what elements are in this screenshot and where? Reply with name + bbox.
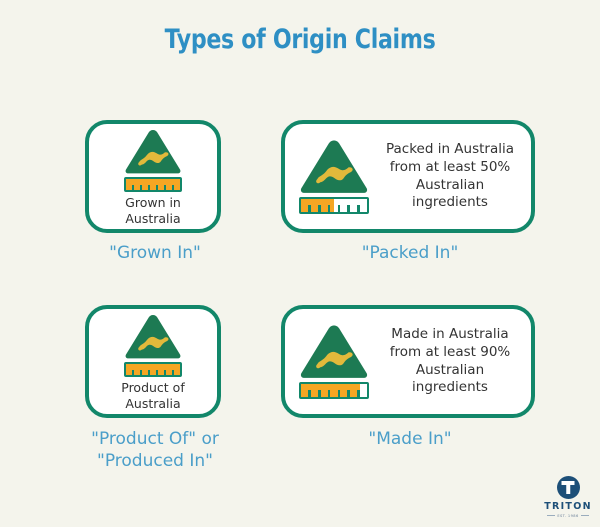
- gauge-ticks: [126, 364, 180, 375]
- claim-label-line1: Grown in: [125, 195, 181, 210]
- brand-logo: TRITON EST. 1986: [546, 476, 590, 518]
- page-title: Types of Origin Claims: [54, 24, 546, 55]
- ingredient-gauge: [299, 382, 369, 399]
- caption-line: "Packed In": [310, 242, 510, 264]
- gauge-ticks: [301, 384, 367, 397]
- claim-text-line4: ingredients: [379, 194, 521, 212]
- claim-text-line4: ingredients: [379, 379, 521, 397]
- claim-text-line3: Australian: [379, 362, 521, 380]
- gauge-ticks: [301, 199, 367, 212]
- claim-text-line1: Packed in Australia: [379, 141, 521, 159]
- rule-left: [547, 515, 555, 516]
- caption-line: "Produced In": [45, 450, 265, 472]
- claim-made-in: Made in Australia from at least 90% Aust…: [281, 305, 535, 418]
- green-triangle-icon: [124, 129, 182, 175]
- australian-made-kangaroo-icon: [297, 139, 371, 214]
- green-triangle-icon: [299, 139, 369, 195]
- caption-packed-in: "Packed In": [310, 242, 510, 264]
- claim-product-of: Product of Australia: [85, 305, 221, 418]
- claim-text-line3: Australian: [379, 177, 521, 195]
- gauge-ticks: [126, 179, 180, 190]
- claim-label: Grown in Australia: [125, 195, 181, 226]
- rule-right: [581, 515, 589, 516]
- australian-made-kangaroo-icon: [121, 129, 185, 192]
- australian-made-kangaroo-icon: [121, 314, 185, 377]
- claim-text: Made in Australia from at least 90% Aust…: [379, 326, 521, 396]
- claim-grown-in: Grown in Australia: [85, 120, 221, 233]
- claim-card-product-of: Product of Australia: [85, 305, 221, 418]
- caption-line: "Product Of" or: [45, 428, 265, 450]
- claim-label-line1: Product of: [121, 380, 184, 395]
- caption-grown-in: "Grown In": [60, 242, 250, 264]
- claim-text-line1: Made in Australia: [379, 326, 521, 344]
- claim-card-grown-in: Grown in Australia: [85, 120, 221, 233]
- claim-label: Product of Australia: [121, 380, 184, 411]
- claim-card-made-in: Made in Australia from at least 90% Aust…: [281, 305, 535, 418]
- claim-text-line2: from at least 50%: [379, 159, 521, 177]
- caption-line: "Made In": [310, 428, 510, 450]
- caption-line: "Grown In": [60, 242, 250, 264]
- australian-made-kangaroo-icon: [297, 324, 371, 399]
- claim-label-line2: Australia: [121, 396, 184, 411]
- claim-card-packed-in: Packed in Australia from at least 50% Au…: [281, 120, 535, 233]
- claim-text-line2: from at least 90%: [379, 344, 521, 362]
- claim-text: Packed in Australia from at least 50% Au…: [379, 141, 521, 211]
- brand-tagline: EST. 1986: [546, 514, 590, 518]
- caption-product-of: "Product Of" or "Produced In": [45, 428, 265, 473]
- claim-packed-in: Packed in Australia from at least 50% Au…: [281, 120, 535, 233]
- triton-monogram-icon: [557, 476, 580, 499]
- ingredient-gauge: [299, 197, 369, 214]
- brand-tagline-text: EST. 1986: [557, 514, 578, 518]
- ingredient-gauge: [124, 362, 182, 377]
- caption-made-in: "Made In": [310, 428, 510, 450]
- green-triangle-icon: [299, 324, 369, 380]
- claim-label-line2: Australia: [125, 211, 181, 226]
- ingredient-gauge: [124, 177, 182, 192]
- infographic-page: Types of Origin Claims: [0, 0, 600, 527]
- brand-name: TRITON: [544, 501, 592, 512]
- green-triangle-icon: [124, 314, 182, 360]
